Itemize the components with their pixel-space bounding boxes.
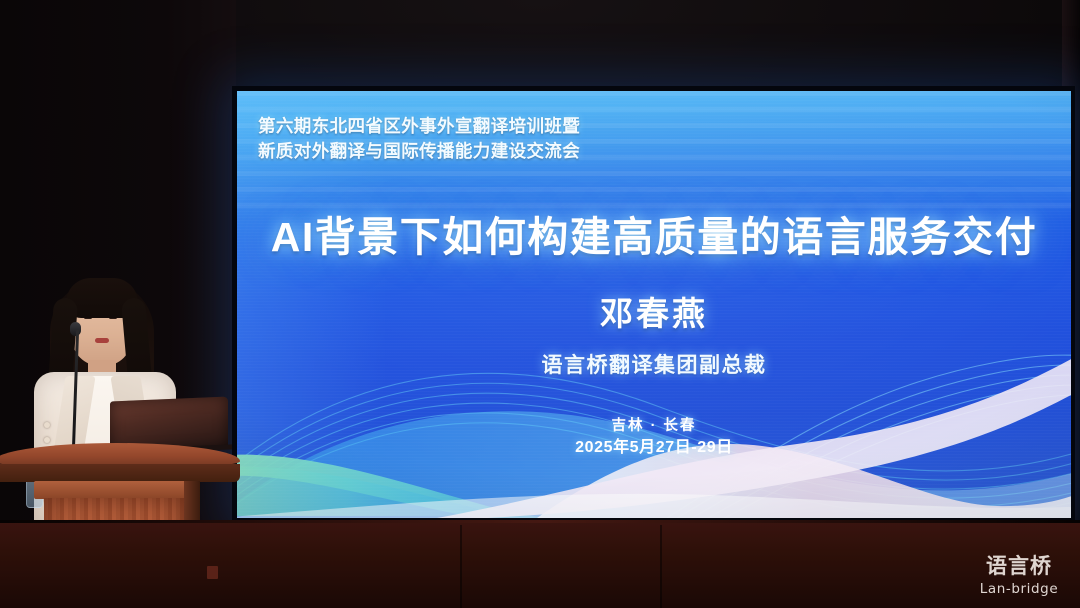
wall-panel-seam	[660, 525, 662, 608]
presenter-lips	[95, 338, 109, 343]
slide-title: AI背景下如何构建高质量的语言服务交付	[237, 212, 1071, 262]
watermark-logo-cn: 语言桥	[973, 551, 1065, 581]
slide-date: 2025年5月27日-29日	[237, 437, 1071, 459]
watermark-logo: 语言桥 Lan-bridge	[966, 546, 1072, 602]
podium-neck	[34, 481, 194, 499]
wall-socket-plate	[207, 566, 218, 579]
podium-front-lip	[0, 464, 240, 482]
slide-header-block: 第六期东北四省区外事外宣翻译培训班暨 新质对外翻译与国际传播能力建设交流会	[258, 114, 678, 164]
watermark-logo-en: Lan-bridge	[980, 581, 1059, 597]
slide-location: 吉林 · 长春	[237, 416, 1071, 437]
slide-speaker-name: 邓春燕	[237, 293, 1071, 335]
wall-panel-seam	[460, 525, 462, 608]
slide-header-line2: 新质对外翻译与国际传播能力建设交流会	[258, 139, 678, 164]
presentation-photo: 第六期东北四省区外事外宣翻译培训班暨 新质对外翻译与国际传播能力建设交流会 AI…	[0, 0, 1080, 608]
slide-header-line1: 第六期东北四省区外事外宣翻译培训班暨	[258, 114, 678, 139]
slide-speaker-role: 语言桥翻译集团副总裁	[237, 352, 1071, 380]
stage-lower-wall	[0, 520, 1080, 608]
lan-bridge-mark: 语言桥	[973, 551, 1065, 581]
